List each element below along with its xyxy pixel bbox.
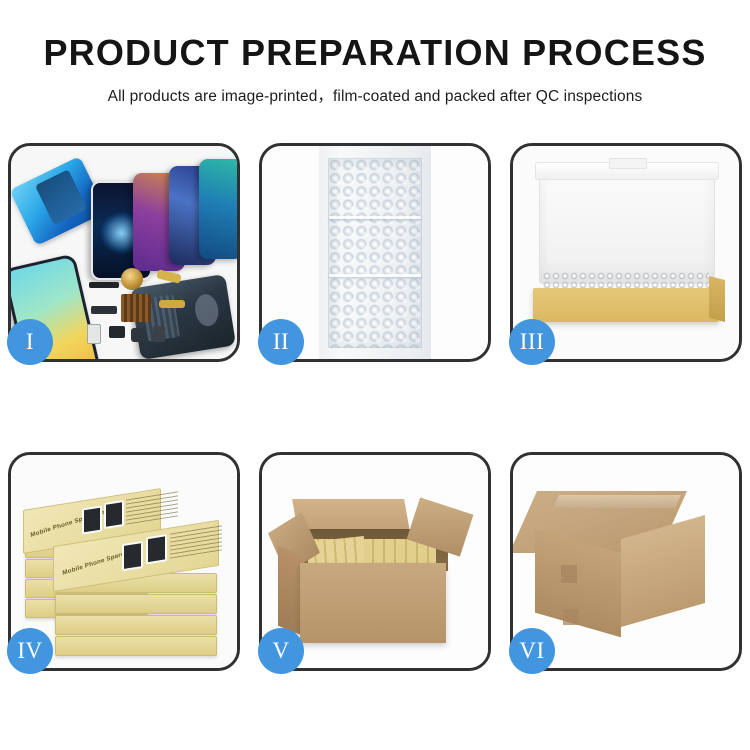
product-preparation-infographic: PRODUCT PREPARATION PROCESS All products… xyxy=(0,0,750,750)
sim-tray-icon xyxy=(87,324,101,344)
process-step-4: Mobile Phone Spare Parts Mobile Phone Sp… xyxy=(8,452,240,671)
process-step-grid: I II III xyxy=(8,143,742,671)
phone-screen-icon xyxy=(199,159,237,259)
box-stack: Mobile Phone Spare Parts Mobile Phone Sp… xyxy=(19,481,233,661)
box-print-screen xyxy=(146,534,167,564)
speaker-coil-icon xyxy=(121,268,143,290)
process-step-5: V xyxy=(259,452,491,671)
wrap-seam xyxy=(329,274,421,277)
ic-chip-icon xyxy=(121,294,151,322)
carton-handle-slot xyxy=(561,565,577,583)
kraft-box-front xyxy=(533,288,719,322)
box-print-spec-lines xyxy=(170,524,222,558)
box-print-screen xyxy=(122,541,143,571)
camera-module-icon xyxy=(109,326,125,338)
wrap-seam xyxy=(329,216,421,219)
process-step-3: III xyxy=(510,143,742,362)
step-badge-1: I xyxy=(7,319,53,365)
connector-icon xyxy=(91,306,117,314)
page-subtitle: All products are image-printed，film-coat… xyxy=(0,84,750,106)
stacked-box xyxy=(55,615,217,635)
carton-body xyxy=(300,563,446,643)
step-badge-2: II xyxy=(258,319,304,365)
small-part-icon xyxy=(131,328,145,342)
flex-cable-icon xyxy=(159,300,185,308)
box-lid-tab xyxy=(609,158,647,169)
step-badge-5: V xyxy=(258,628,304,674)
packing-tape-icon xyxy=(553,495,681,508)
process-step-2: II xyxy=(259,143,491,362)
stacked-box xyxy=(55,636,217,656)
step-badge-6: VI xyxy=(509,628,555,674)
flex-cable-icon xyxy=(156,269,181,284)
process-step-6: VI xyxy=(510,452,742,671)
step-badge-3: III xyxy=(509,319,555,365)
kraft-box-side xyxy=(709,276,725,322)
page-title: PRODUCT PREPARATION PROCESS xyxy=(0,33,750,73)
vibration-motor-icon xyxy=(89,282,119,288)
stacked-box xyxy=(55,594,217,614)
box-print-screen xyxy=(104,500,124,529)
foam-liner xyxy=(547,186,705,264)
header: PRODUCT PREPARATION PROCESS All products… xyxy=(0,0,750,106)
bubble-grid xyxy=(328,158,422,348)
process-step-1: I xyxy=(8,143,240,362)
box-print-screen xyxy=(82,505,102,534)
small-part-icon xyxy=(153,326,165,342)
carton-handle-slot xyxy=(563,609,579,625)
box-print-spec-lines xyxy=(126,490,178,524)
step-badge-4: IV xyxy=(7,628,53,674)
spare-parts-group xyxy=(85,266,197,358)
